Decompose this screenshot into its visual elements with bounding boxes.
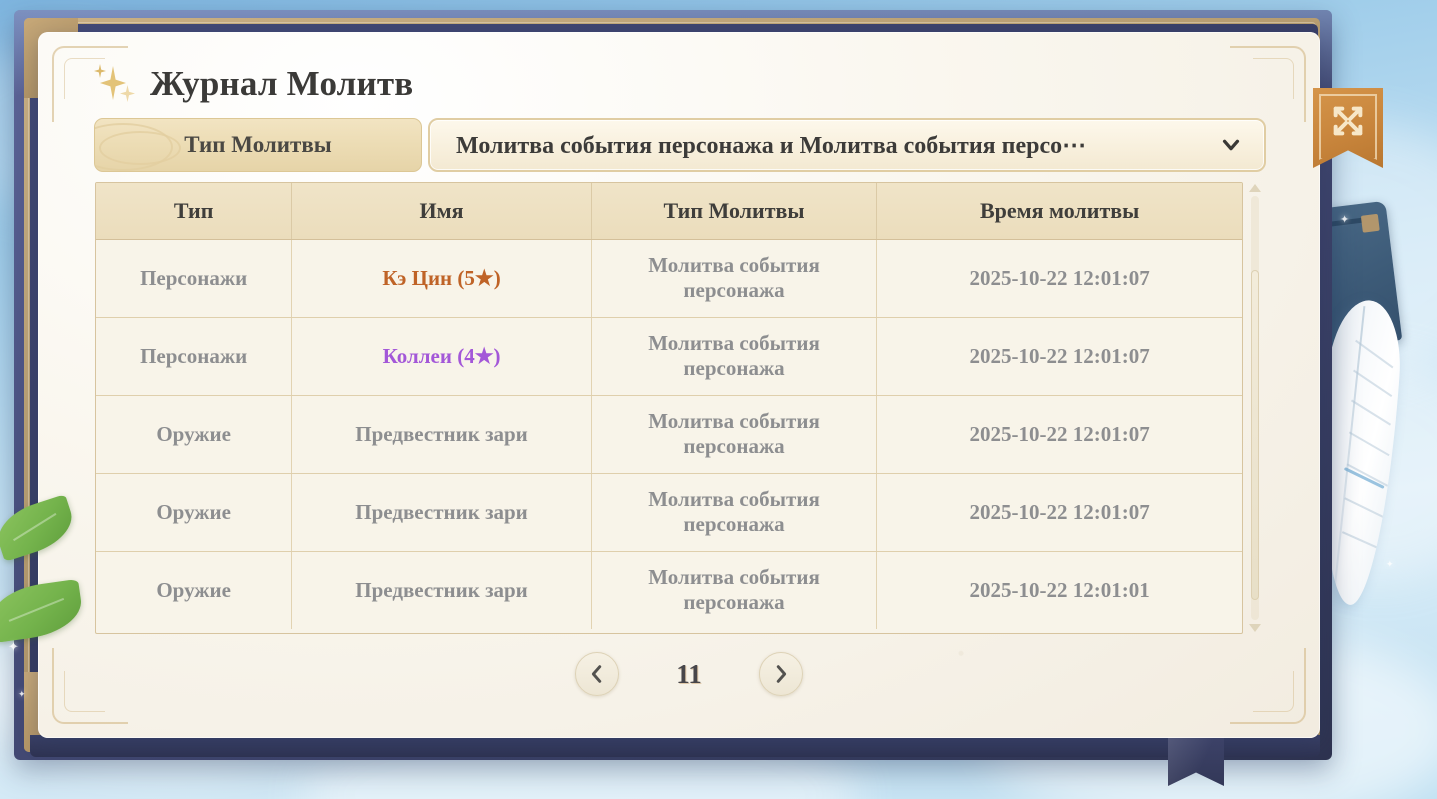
filter-bar: Тип Молитвы Молитва события персонажа и … [94, 118, 1266, 172]
sparkle-particle: ✦ [1340, 215, 1349, 226]
sparkle-particle: ✦ [18, 690, 26, 699]
feather-barb [1349, 431, 1390, 455]
chevron-left-icon [586, 663, 608, 685]
feather-barb [1344, 497, 1386, 519]
sparkle-icon [94, 62, 138, 106]
wish-history-panel: Журнал Молитв Тип Молитвы Молитва событи… [38, 32, 1320, 738]
cell-time: 2025-10-22 12:01:07 [877, 395, 1242, 473]
chevron-right-icon [770, 663, 792, 685]
column-header-time: Время молитвы [877, 183, 1242, 239]
wish-history-table-wrap: Тип Имя Тип Молитвы Время молитвы Персон… [95, 182, 1267, 634]
feather-barb [1355, 340, 1393, 368]
cell-type: Персонажи [96, 317, 292, 395]
close-expand-icon [1329, 102, 1367, 140]
sparkle-particle: ✦ [8, 640, 19, 653]
column-header-wish-type: Тип Молитвы [591, 183, 877, 239]
wish-type-label-tab: Тип Молитвы [94, 118, 422, 172]
corner-flourish-top-right [1230, 46, 1306, 122]
cell-wish-type: Молитва события персонажа [591, 317, 877, 395]
table-header-row: Тип Имя Тип Молитвы Время молитвы [96, 183, 1242, 239]
table-scrollbar[interactable] [1243, 182, 1267, 634]
cell-wish-type: Молитва события персонажа [591, 239, 877, 317]
feather-barb [1353, 370, 1392, 397]
cell-wish-type: Молитва события персонажа [591, 551, 877, 629]
cell-name: Предвестник зари [292, 473, 592, 551]
current-page-number: 11 [669, 659, 709, 690]
feather-barb [1351, 400, 1391, 426]
cell-wish-type: Молитва события персонажа [591, 395, 877, 473]
scrollbar-track[interactable] [1251, 196, 1259, 620]
cell-wish-type: Молитва события персонажа [591, 473, 877, 551]
cell-time: 2025-10-22 12:01:07 [877, 317, 1242, 395]
table-row: Персонажи Кэ Цин (5★) Молитва события пе… [96, 239, 1242, 317]
cell-type: Оружие [96, 551, 292, 629]
feather-shaft [1332, 306, 1365, 601]
cell-type: Оружие [96, 395, 292, 473]
cell-type: Персонажи [96, 239, 292, 317]
next-page-button[interactable] [759, 652, 803, 696]
cell-type: Оружие [96, 473, 292, 551]
panel-base-shadow [30, 735, 1320, 757]
previous-page-button[interactable] [575, 652, 619, 696]
cell-time: 2025-10-22 12:01:01 [877, 551, 1242, 629]
table-row: Оружие Предвестник зари Молитва события … [96, 473, 1242, 551]
pagination: 11 [38, 652, 1320, 696]
feather-barb [1347, 463, 1388, 486]
scrollbar-down-arrow[interactable] [1249, 624, 1261, 632]
panel-header: Журнал Молитв [94, 62, 413, 106]
scrollbar-up-arrow[interactable] [1249, 184, 1261, 192]
column-header-type: Тип [96, 183, 292, 239]
page-title: Журнал Молитв [150, 64, 413, 104]
wish-type-dropdown-value: Молитва события персонажа и Молитва собы… [456, 131, 1212, 160]
table-row: Оружие Предвестник зари Молитва события … [96, 551, 1242, 629]
table-body: Персонажи Кэ Цин (5★) Молитва события пе… [96, 239, 1242, 629]
cell-time: 2025-10-22 12:01:07 [877, 239, 1242, 317]
sparkle-particle: ✦ [1386, 560, 1394, 569]
table-row: Персонажи Коллеи (4★) Молитва события пе… [96, 317, 1242, 395]
chevron-down-icon [1220, 134, 1242, 156]
cell-name: Предвестник зари [292, 551, 592, 629]
scrollbar-thumb[interactable] [1251, 270, 1259, 600]
cell-time: 2025-10-22 12:01:07 [877, 473, 1242, 551]
column-header-name: Имя [292, 183, 592, 239]
cell-name: Предвестник зари [292, 395, 592, 473]
wish-history-table: Тип Имя Тип Молитвы Время молитвы Персон… [96, 183, 1242, 629]
feather-highlight [1344, 467, 1385, 489]
wish-type-label-text: Тип Молитвы [184, 132, 331, 158]
cell-name: Кэ Цин (5★) [292, 239, 592, 317]
table-head: Тип Имя Тип Молитвы Время молитвы [96, 183, 1242, 239]
table-row: Оружие Предвестник зари Молитва события … [96, 395, 1242, 473]
wish-type-dropdown[interactable]: Молитва события персонажа и Молитва собы… [428, 118, 1266, 172]
cell-name: Коллеи (4★) [292, 317, 592, 395]
wish-history-table-area: Тип Имя Тип Молитвы Время молитвы Персон… [95, 182, 1243, 634]
